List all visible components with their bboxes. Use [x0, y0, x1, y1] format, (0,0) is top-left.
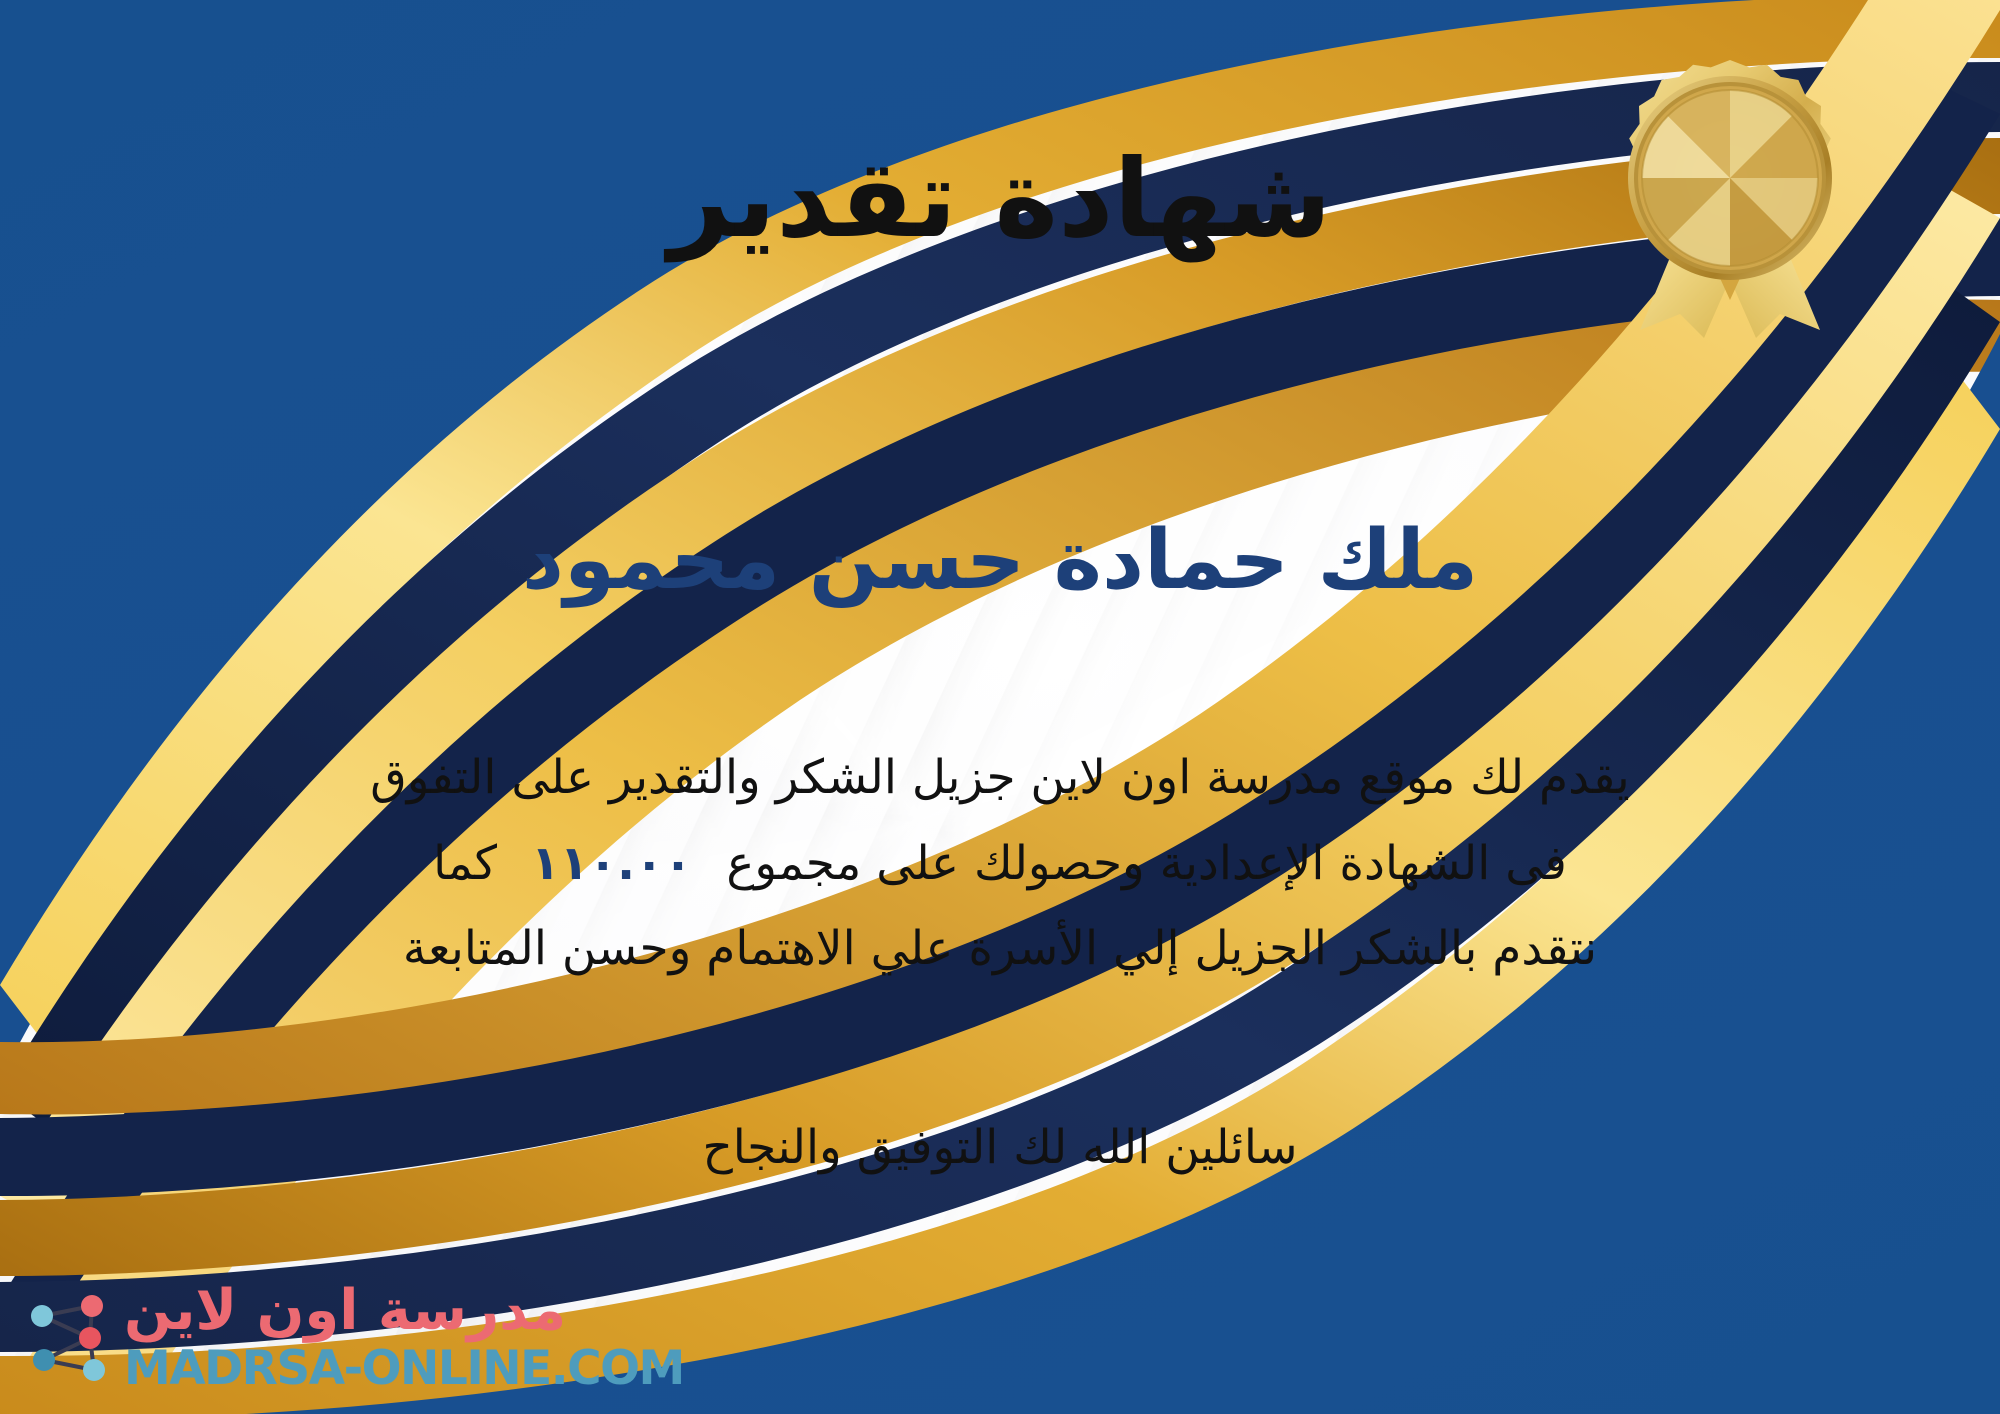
page-title: شهادة تقدير: [0, 138, 2000, 262]
brand-url: MADRSA-ONLINE.COM: [124, 1345, 684, 1392]
body-line-2-prefix: فى الشهادة الإعدادية وحصولك على مجموع: [726, 836, 1567, 891]
body-line-2: فى الشهادة الإعدادية وحصولك على مجموع١١٠…: [60, 821, 1940, 907]
certificate-canvas: شهادة تقدير ملك حمادة حسن محمود يقدم لك …: [0, 0, 2000, 1414]
network-nodes-icon: [26, 1290, 110, 1386]
brand-arabic-name: مدرسة اون لاين: [124, 1283, 566, 1339]
certificate-content: شهادة تقدير ملك حمادة حسن محمود يقدم لك …: [0, 0, 2000, 1414]
body-line-3: نتقدم بالشكر الجزيل إلي الأسرة علي الاهت…: [60, 906, 1940, 992]
closing-line: سائلين الله لك التوفيق والنجاح: [0, 1110, 2000, 1185]
brand-logo[interactable]: مدرسة اون لاين MADRSA-ONLINE.COM: [26, 1283, 684, 1392]
recipient-name: ملك حمادة حسن محمود: [0, 512, 2000, 610]
body-line-1: يقدم لك موقع مدرسة اون لاين جزيل الشكر و…: [60, 735, 1940, 821]
body-line-2-suffix: كما: [433, 836, 497, 891]
brand-text: مدرسة اون لاين MADRSA-ONLINE.COM: [124, 1283, 684, 1392]
certificate-body: يقدم لك موقع مدرسة اون لاين جزيل الشكر و…: [60, 735, 1940, 992]
score-value: ١١٠.٠٠: [497, 836, 726, 891]
